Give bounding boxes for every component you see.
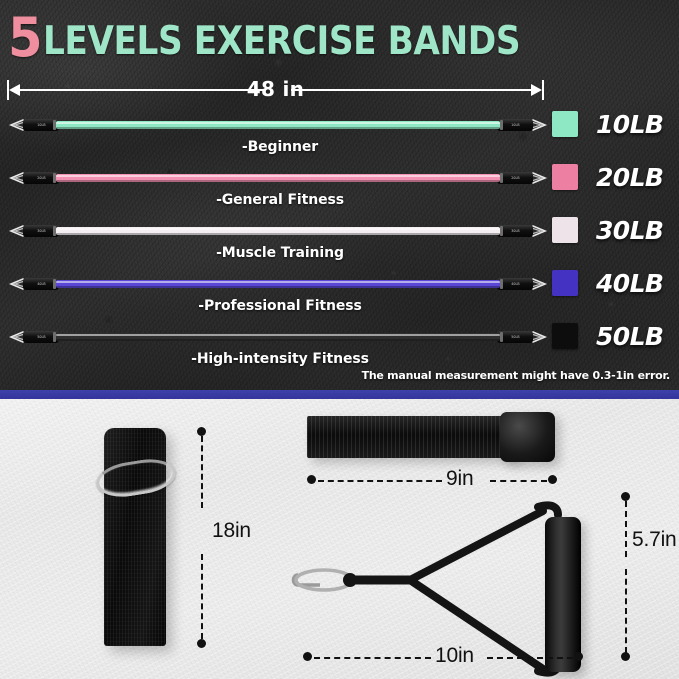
section-divider [0,390,679,399]
color-swatch [552,217,578,243]
band-sleeve-label: 40LB [511,282,519,286]
band-caption: -Beginner [0,139,560,155]
band-sleeve-label: 40LB [37,282,45,286]
dim-line-57in-lower [625,569,627,653]
dim-line-9in-right [490,480,547,482]
dim-dot-9in-left [307,475,316,484]
title-text: LEVELS EXERCISE BANDS [43,22,520,63]
dimension-label: 48 in [238,77,313,101]
band-sleeve-label: 30LB [511,229,519,233]
band-row: 30LB30LB [0,218,560,244]
color-swatch [552,270,578,296]
strap-rib-texture [307,416,517,458]
dim-line-18in-lower [201,554,203,639]
resistance-band: 40LB40LB [8,271,548,297]
band-ferrule [500,120,503,130]
color-swatch [552,323,578,349]
resistance-band: 30LB30LB [8,218,548,244]
handle-foam-grip [545,517,581,672]
band-shadow [56,286,500,288]
band-shadow [56,339,500,341]
band-shadow [56,180,500,182]
color-swatch [552,111,578,137]
legend-item: 10LB [552,107,663,141]
legend-item: 30LB [552,213,663,247]
dim-line-10in-right [487,657,573,659]
band-tube [56,227,500,235]
band-caption: -High-intensity Fitness [0,351,560,367]
dimension-cap-right [542,80,544,100]
band-tube [56,280,500,288]
band-length-dimension: 48 in [7,79,544,101]
product-infographic: 5 LEVELS EXERCISE BANDS 48 in 10LB10LB20… [0,0,679,679]
band-ferrule [500,173,503,183]
band-row: 40LB40LB [0,271,560,297]
dim-dot-10in-left [303,652,312,661]
dimension-57in-label: 5.7in [632,528,677,552]
dimension-18in-label: 18in [212,519,251,543]
band-highlight [56,175,500,177]
band-sleeve-label: 10LB [511,123,519,127]
weight-label: 20LB [596,163,663,192]
arrowhead-right-icon [531,84,542,96]
legend-item: 50LB [552,319,663,353]
dim-dot-18in-bottom [197,639,206,648]
band-sleeve-label: 50LB [511,335,519,339]
legend-item: 40LB [552,266,663,300]
band-ferrule [500,226,503,236]
weight-label: 30LB [596,216,663,245]
bottom-white-panel: 18in 9in [0,399,679,679]
band-highlight [56,122,500,124]
band-ferrule [500,279,503,289]
color-swatch [552,164,578,190]
dim-line-10in-left [314,657,431,659]
weight-label: 50LB [596,322,663,351]
band-tube [56,174,500,182]
band-row: 10LB10LB [0,112,560,138]
legend-item: 20LB [552,160,663,194]
band-highlight [56,228,500,230]
dimension-9in-label: 9in [446,467,473,491]
weight-label: 10LB [596,110,663,139]
resistance-band: 10LB10LB [8,112,548,138]
band-sleeve-label: 30LB [37,229,45,233]
band-sleeve-label: 10LB [37,123,45,127]
band-row: 20LB20LB [0,165,560,191]
door-anchor-ball-image [500,412,555,462]
band-tube [56,121,500,129]
weight-label: 40LB [596,269,663,298]
dim-dot-57in-bottom [621,652,630,661]
band-highlight [56,281,500,283]
page-title: 5 LEVELS EXERCISE BANDS [8,13,585,63]
band-row: 50LB50LB [0,324,560,350]
dim-line-9in-left [318,480,442,482]
band-sleeve-label: 20LB [511,176,519,180]
band-caption: -Professional Fitness [0,298,560,314]
band-shadow [56,127,500,129]
band-sleeve-label: 20LB [37,176,45,180]
resistance-band: 20LB20LB [8,165,548,191]
band-highlight [56,334,500,336]
dimension-10in-label: 10in [435,644,474,668]
dimension-line-left [15,89,265,91]
dim-dot-57in-top [621,492,630,501]
dim-dot-9in-right [548,475,557,484]
dim-dot-18in-top [197,427,206,436]
dim-line-57in-upper [625,501,627,557]
resistance-band: 50LB50LB [8,324,548,350]
dim-dot-10in-right [574,652,583,661]
band-ferrule [500,332,503,342]
band-caption: -Muscle Training [0,245,560,261]
band-tube [56,333,500,341]
band-shadow [56,233,500,235]
band-sleeve-label: 50LB [37,335,45,339]
title-count: 5 [8,13,41,63]
band-caption: -General Fitness [0,192,560,208]
dimension-line-right [291,89,536,91]
disclaimer-text: The manual measurement might have 0.3-1i… [362,369,670,382]
dim-line-18in-upper [201,436,203,508]
arrowhead-left-icon [9,84,20,96]
door-anchor-strap-image [307,416,517,458]
